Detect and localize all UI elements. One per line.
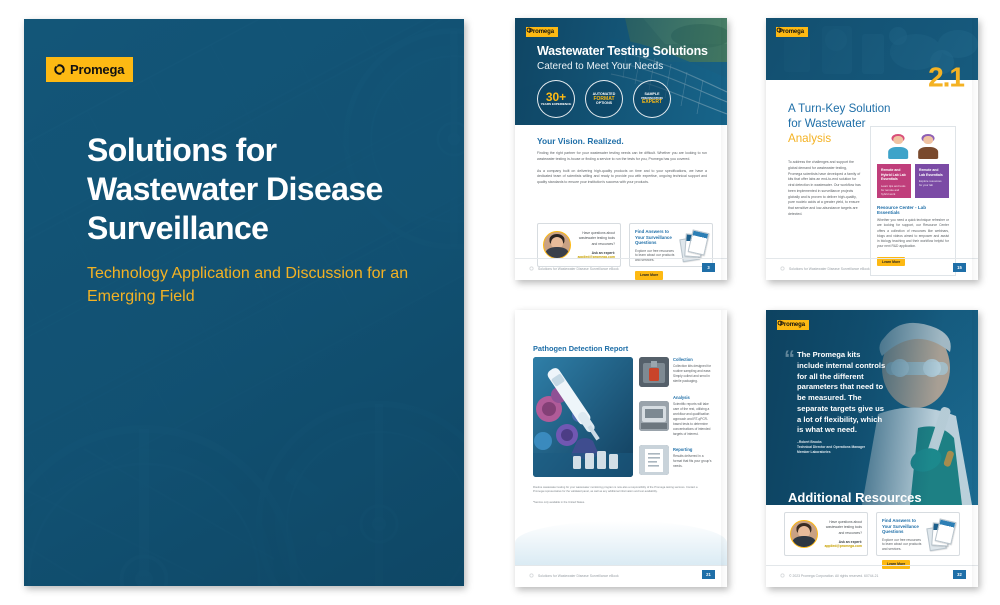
pipetting-virus-image — [533, 357, 633, 477]
promega-mark-icon — [780, 573, 785, 578]
turnkey-title-line1: A Turn-Key Solution — [788, 102, 890, 115]
intro-hero: Promega Wastewater Testing Solutions Cat… — [515, 18, 727, 125]
intro-paragraph-2: As a company built on delivering high-qu… — [537, 169, 707, 186]
resource-center-text: Whether you need a quick technique refre… — [877, 218, 949, 250]
expert-question: Have questions about wastewater testing … — [575, 231, 615, 247]
panel-tile-1-desc: Learn tips and tools for remote and hybr… — [881, 185, 907, 197]
promega-mark-icon — [529, 266, 534, 271]
testimonial-attribution: –Robert Brooks Technical Director and Op… — [797, 440, 892, 455]
chapter-number: 2.1 — [928, 61, 964, 93]
attribution-org: Member Laboratories — [797, 450, 892, 455]
collection-kit-thumbnail — [639, 357, 669, 387]
report-section-reporting: Reporting Results delivered in a format … — [673, 447, 713, 469]
section-heading: Collection — [673, 357, 713, 362]
quote-hero: Promega “ The Promega kits include inter… — [766, 310, 978, 505]
page-number: 15 — [953, 263, 966, 272]
report-section-analysis: Analysis Scientific reports will take ca… — [673, 395, 713, 437]
footer-text: Solutions for Wastewater Disease Surveil… — [789, 267, 870, 271]
ebook-cover[interactable]: Promega Solutions for Wastewater Disease… — [24, 19, 464, 586]
promega-logo-page-turnkey: Promega — [776, 27, 808, 37]
promega-logo-page-intro: Promega — [526, 27, 558, 37]
section-heading: Reporting — [673, 447, 713, 452]
badge-sample-prep-expert: SAMPLE PREPARATION EXPERT — [633, 80, 671, 118]
intro-section-heading: Your Vision. Realized. — [537, 136, 707, 146]
report-footnotes: Routine wastewater testing for your wast… — [533, 486, 709, 504]
expert-avatar — [790, 520, 818, 548]
additional-resources-heading: Additional Resources — [788, 490, 922, 505]
turnkey-title-line2: for Wastewater — [788, 117, 866, 130]
expert-email-link[interactable]: applied@promega.com — [822, 544, 862, 548]
footer-text: Solutions for Wastewater Disease Surveil… — [538, 267, 619, 271]
page-footer-resources: © 2023 Promega Corporation. All rights r… — [766, 565, 978, 587]
report-sections: Collection Collection kits designed for … — [673, 357, 713, 480]
report-thumbnails — [639, 357, 669, 489]
page-thumbnail-pathogen-report[interactable]: Pathogen Detection Report — [515, 310, 727, 587]
turnkey-title-accent: Analysis — [788, 132, 831, 145]
footer-text: © 2023 Promega Corporation. All rights r… — [789, 574, 878, 578]
badge-sample-line3: EXPERT — [642, 100, 662, 105]
find-answers-desc: Explore our free resources to learn abou… — [882, 538, 924, 553]
expert-question: Have questions about wastewater testing … — [822, 520, 862, 536]
page-footer-intro: Solutions for Wastewater Disease Surveil… — [515, 258, 727, 280]
resource-sheets-image — [928, 518, 954, 550]
expert-avatar — [543, 231, 571, 259]
promega-mark-icon — [526, 27, 532, 33]
report-section-collection: Collection Collection kits designed for … — [673, 357, 713, 384]
promega-wordmark: Promega — [779, 29, 804, 35]
find-answers-title: Find Answers to Your Surveillance Questi… — [635, 229, 677, 246]
cover-title: Solutions for Wastewater Disease Surveil… — [87, 131, 447, 248]
page-number: 21 — [702, 570, 715, 579]
intro-hero-subtitle: Catered to Meet Your Needs — [537, 61, 663, 72]
resource-sheets-image — [681, 229, 707, 261]
resource-center-panel[interactable]: Remote and Hybrid Lab Lab Essentials Lea… — [870, 126, 956, 276]
page-footer-pathogen: Solutions for Wastewater Disease Surveil… — [515, 565, 727, 587]
scientist-avatar-pink — [886, 133, 910, 159]
promega-mark-icon — [529, 573, 534, 578]
footnote-1: Routine wastewater testing for your wast… — [533, 486, 709, 494]
page-number: 32 — [953, 570, 966, 579]
page-thumbnail-turnkey[interactable]: Promega 2.1 A Turn-Key Solution for Wast… — [766, 18, 978, 280]
find-answers-title: Find Answers to Your Surveillance Questi… — [882, 518, 924, 535]
value-badges: 30+ YEARS EXPERIENCE AUTOMATED FORMAT OP… — [537, 80, 671, 118]
testimonial-quote: The Promega kits include internal contro… — [797, 350, 887, 436]
pathogen-report-title: Pathogen Detection Report — [533, 344, 628, 353]
turnkey-body: To address the challenges and support th… — [788, 160, 862, 224]
footnote-2: *Service only available in the United St… — [533, 501, 709, 504]
badge-automated-line3: OPTIONS — [596, 102, 612, 106]
badge-automated-format: AUTOMATED FORMAT OPTIONS — [585, 80, 623, 118]
resources-cta-row: Have questions about wastewater testing … — [784, 512, 960, 556]
intro-hero-title: Wastewater Testing Solutions — [537, 44, 708, 58]
section-text: Scientific reports will take care of the… — [673, 402, 713, 437]
promega-logo-cover: Promega — [46, 57, 133, 82]
section-text: Collection kits designed for routine sam… — [673, 364, 713, 384]
promega-mark-icon — [776, 27, 782, 33]
promega-mark-icon — [780, 266, 785, 271]
cover-subtitle: Technology Application and Discussion fo… — [87, 262, 417, 308]
panel-tile-2-title: Remote and Lab Essentials — [919, 168, 945, 177]
scientist-avatar-purple — [916, 133, 940, 159]
page-footer-turnkey: Solutions for Wastewater Disease Surveil… — [766, 258, 978, 280]
badge-years-label: YEARS EXPERIENCE — [541, 103, 572, 106]
section-heading: Analysis — [673, 395, 713, 400]
panel-tile-2[interactable]: Remote and Lab Essentials Explore resour… — [915, 164, 949, 198]
ask-an-expert-card[interactable]: Have questions about wastewater testing … — [784, 512, 868, 556]
find-answers-card[interactable]: Find Answers to Your Surveillance Questi… — [876, 512, 960, 556]
page-thumbnail-additional-resources[interactable]: Promega “ The Promega kits include inter… — [766, 310, 978, 587]
panel-tile-2-desc: Explore resources for your lab — [919, 180, 945, 188]
quote-mark-icon: “ — [784, 348, 795, 370]
page-number: 3 — [702, 263, 715, 272]
intro-paragraph-1: Finding the right partner for your waste… — [537, 151, 707, 163]
panel-tiles: Remote and Hybrid Lab Lab Essentials Lea… — [877, 164, 949, 198]
panel-avatars — [877, 133, 949, 159]
panel-tile-1[interactable]: Remote and Hybrid Lab Lab Essentials Lea… — [877, 164, 911, 198]
promega-logo-page-resources: Promega — [777, 320, 809, 330]
panel-tile-1-title: Remote and Hybrid Lab Lab Essentials — [881, 168, 907, 182]
footer-text: Solutions for Wastewater Disease Surveil… — [538, 574, 619, 578]
badge-years-experience: 30+ YEARS EXPERIENCE — [537, 80, 575, 118]
promega-mark-icon — [53, 63, 66, 76]
resource-center-heading: Resource Center - Lab Essentials — [877, 205, 949, 215]
promega-wordmark: Promega — [529, 29, 554, 35]
promega-wordmark: Promega — [70, 62, 124, 77]
promega-wordmark: Promega — [780, 322, 805, 328]
lab-analysis-thumbnail — [639, 401, 669, 431]
page-thumbnail-intro[interactable]: Promega Wastewater Testing Solutions Cat… — [515, 18, 727, 280]
decorative-wave — [515, 521, 727, 565]
section-text: Results delivered in a format that fits … — [673, 454, 713, 469]
intro-body: Your Vision. Realized. Finding the right… — [537, 136, 707, 192]
turnkey-paragraph: To address the challenges and support th… — [788, 160, 862, 218]
promega-mark-icon — [777, 320, 783, 326]
reporting-thumbnail — [639, 445, 669, 475]
ebook-preview-stage: Promega Solutions for Wastewater Disease… — [0, 0, 1000, 605]
